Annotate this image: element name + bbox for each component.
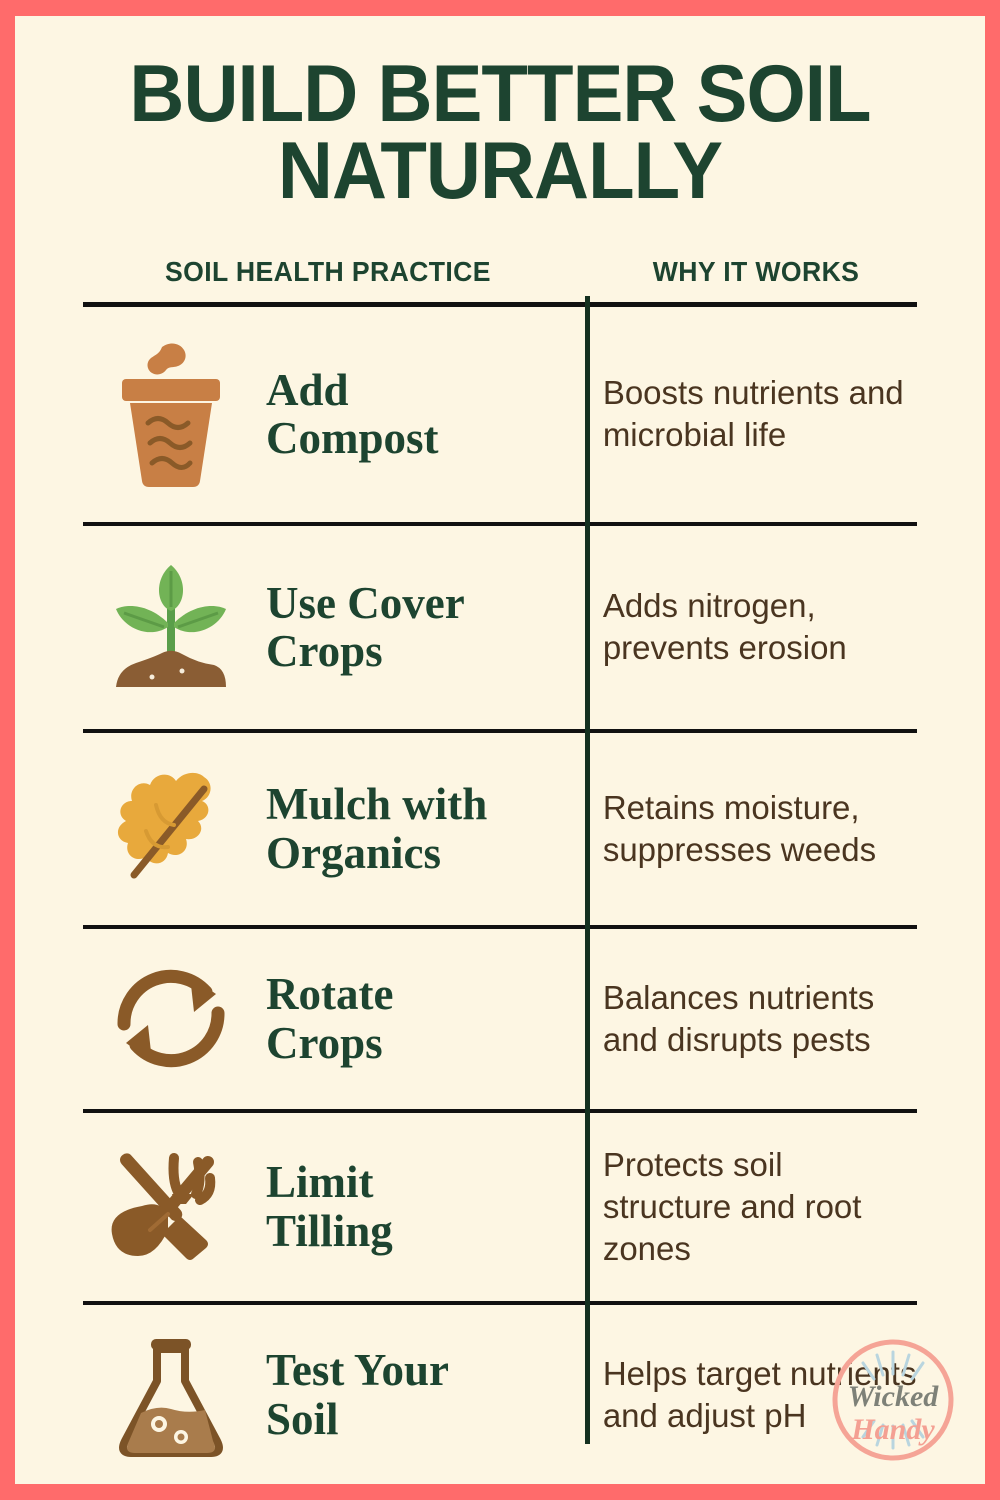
reason-cell: Boosts nutrients and microbial life	[573, 372, 917, 456]
practice-label-line-2: Compost	[266, 413, 439, 463]
table-row: Add Compost Boosts nutrients and microbi…	[83, 307, 917, 522]
practice-label-line-1: Rotate	[266, 969, 393, 1019]
practice-label: Limit Tilling	[258, 1158, 403, 1255]
oak-leaf-icon	[83, 759, 258, 899]
practice-cell: Limit Tilling	[83, 1144, 573, 1269]
soil-practice-table: SOIL HEALTH PRACTICE WHY IT WORKS	[83, 256, 917, 1484]
practice-label: Test Your Soil	[258, 1346, 459, 1443]
shovel-and-fork-icon	[83, 1144, 258, 1269]
practice-label-line-2: Crops	[266, 1018, 383, 1068]
practice-label-line-1: Limit	[266, 1157, 374, 1207]
logo-word-bottom: Handy	[850, 1413, 935, 1446]
reason-cell: Adds nitrogen, prevents erosion	[573, 585, 917, 669]
reason-cell: Balances nutrients and disrupts pests	[573, 977, 917, 1061]
page-title: BUILD BETTER SOIL NATURALLY	[44, 16, 956, 210]
table-row: Use Cover Crops Adds nitrogen, prevents …	[83, 526, 917, 729]
practice-label-line-2: Crops	[266, 626, 383, 676]
seedling-icon	[83, 557, 258, 697]
practice-label-line-1: Test Your	[266, 1345, 449, 1395]
logo-word-top: Wicked	[848, 1380, 940, 1413]
practice-cell: Mulch with Organics	[83, 759, 573, 899]
column-header-reason: WHY IT WORKS	[603, 256, 909, 288]
poster-canvas: BUILD BETTER SOIL NATURALLY SOIL HEALTH …	[15, 16, 985, 1484]
table-row: Rotate Crops Balances nutrients and disr…	[83, 929, 917, 1109]
practice-label: Rotate Crops	[258, 970, 403, 1067]
flask-icon	[83, 1325, 258, 1465]
column-header-practice: SOIL HEALTH PRACTICE	[95, 256, 560, 288]
rotation-arrows-icon	[83, 956, 258, 1081]
practice-label-line-1: Add	[266, 365, 349, 415]
practice-label-line-1: Use Cover	[266, 578, 465, 628]
compost-bin-icon	[83, 339, 258, 489]
practice-label-line-1: Mulch with	[266, 779, 487, 829]
practice-label-line-2: Tilling	[266, 1206, 393, 1256]
title-line-1: BUILD BETTER SOIL	[82, 56, 919, 133]
table-row: Limit Tilling Protects soil structure an…	[83, 1113, 917, 1301]
practice-label-line-2: Organics	[266, 828, 441, 878]
table-row: Mulch with Organics Retains moisture, su…	[83, 733, 917, 925]
practice-label-line-2: Soil	[266, 1394, 339, 1444]
table-header-row: SOIL HEALTH PRACTICE WHY IT WORKS	[83, 256, 917, 302]
practice-cell: Rotate Crops	[83, 956, 573, 1081]
practice-label: Add Compost	[258, 366, 449, 463]
title-line-2: NATURALLY	[82, 133, 919, 210]
reason-cell: Retains moisture, suppresses weeds	[573, 787, 917, 871]
practice-cell: Add Compost	[83, 339, 573, 489]
poster-frame: BUILD BETTER SOIL NATURALLY SOIL HEALTH …	[0, 0, 1000, 1500]
wicked-handy-logo: Wicked Handy	[823, 1330, 963, 1470]
practice-cell: Use Cover Crops	[83, 557, 573, 697]
practice-label: Use Cover Crops	[258, 579, 475, 676]
reason-cell: Protects soil structure and root zones	[573, 1144, 917, 1271]
practice-label: Mulch with Organics	[258, 780, 497, 877]
practice-cell: Test Your Soil	[83, 1325, 573, 1465]
table-row: Test Your Soil Helps target nutrients an…	[83, 1305, 917, 1484]
